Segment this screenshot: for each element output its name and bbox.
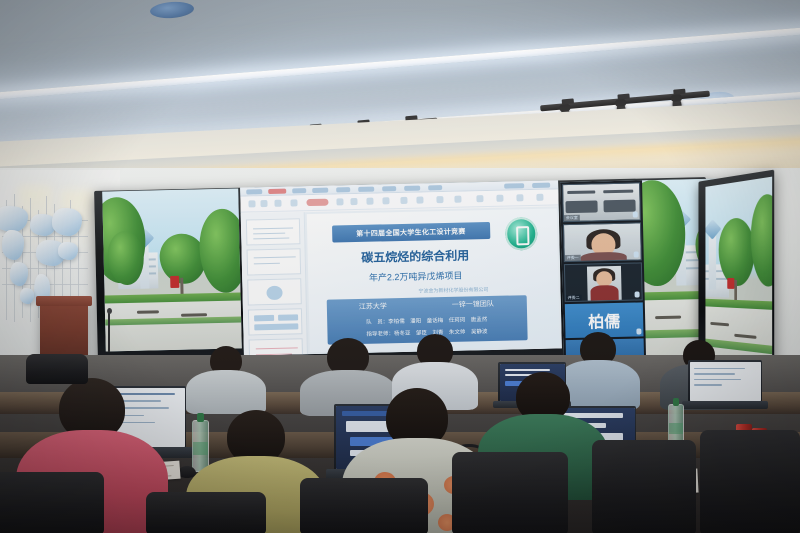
participant-tile[interactable]: 评委二 [564,262,643,302]
mic-status-icon [635,291,640,297]
office-chair[interactable] [700,430,800,533]
screen-panel-presentation: 第十四届全国大学生化工设计竞赛 碳五烷烃的综合利用 年产2.2万吨异戊烯项目 宁… [240,180,562,355]
office-chair[interactable] [452,452,568,533]
screenshot-root: 第十四届全国大学生化工设计竞赛 碳五烷烃的综合利用 年产2.2万吨异戊烯项目 宁… [0,0,800,533]
campus-photograph [102,188,242,351]
slide-banner: 第十四届全国大学生化工设计竞赛 [332,222,490,242]
participant-tile[interactable]: 会议室 [562,182,641,222]
office-chair[interactable] [592,440,696,533]
lectern-top [36,296,92,306]
mic-status-icon [633,211,638,217]
screen-panel-left [102,188,242,351]
slide-navigator-pane[interactable] [241,212,308,355]
slide-title: 碳五烷烃的综合利用 [323,245,508,266]
slide-subtitle: 年产2.2万吨异戊烯项目 [323,268,508,285]
slide-thumbnail[interactable] [248,308,303,335]
toolbar-highlight[interactable] [306,199,328,206]
participant-name: 评委二 [566,295,582,301]
office-chair[interactable] [26,354,88,384]
desk-microphone [108,312,110,352]
current-slide: 第十四届全国大学生化工设计竞赛 碳五烷烃的综合利用 年产2.2万吨异戊烯项目 宁… [307,208,560,352]
laptop[interactable] [688,360,762,402]
participant-name: 柏儒 [588,308,621,333]
slide-thumbnail[interactable] [247,278,302,305]
university-emblem-icon [504,217,537,250]
slide-school: 江苏大学 [359,302,387,313]
participant-name: 评委一 [565,255,581,261]
slide-subtitle-secondary: 宁波金为新材化学股份有限公司 [383,285,523,295]
mic-status-icon [634,251,639,257]
slide-members: 队 员：李柏儒 潘阳 童话梅 任珂珂 唐孟然 [333,314,521,326]
participant-name: 会议室 [564,215,580,221]
ceiling [0,0,800,175]
slide-thumbnail[interactable] [247,248,302,275]
wooden-lectern [40,300,88,362]
slide-team-name: 一锌一镱团队 [452,299,494,310]
laptop-screen-document [690,362,761,401]
participant-tile-list[interactable]: 会议室 评委一 [562,182,644,356]
person-torso [186,370,266,414]
participant-tile[interactable]: 评委一 [563,222,642,262]
presentation-application: 第十四届全国大学生化工设计竞赛 碳五烷烃的综合利用 年产2.2万吨异戊烯项目 宁… [240,180,562,355]
attendee-light-shirt [186,346,266,410]
slide-thumbnail[interactable] [246,218,301,245]
ceiling-speaker [149,0,194,19]
ribbon-tab-active[interactable] [268,189,286,194]
